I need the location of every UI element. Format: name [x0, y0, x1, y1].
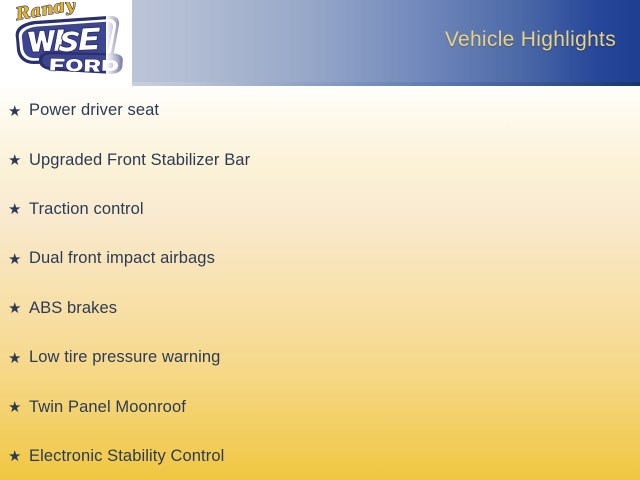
highlight-label: Power driver seat	[29, 101, 159, 120]
list-item: ★ Twin Panel Moonroof	[0, 382, 640, 431]
highlight-label: ABS brakes	[29, 299, 117, 318]
logo-plate: Randy	[0, 0, 132, 86]
highlight-label: Twin Panel Moonroof	[29, 398, 186, 417]
list-item: ★ Traction control	[0, 185, 640, 234]
highlight-label: Traction control	[29, 200, 144, 219]
list-item: ★ Upgraded Front Stabilizer Bar	[0, 135, 640, 184]
star-bullet-icon: ★	[8, 300, 29, 316]
highlight-label: Electronic Stability Control	[29, 447, 224, 466]
randy-wise-ford-logo: Randy	[4, 2, 130, 82]
vehicle-highlights-slide: Vehicle Highlights Randy	[0, 0, 640, 480]
list-item: ★ Low tire pressure warning	[0, 333, 640, 382]
page-title: Vehicle Highlights	[445, 28, 616, 52]
list-item: ★ Dual front impact airbags	[0, 234, 640, 283]
star-bullet-icon: ★	[8, 448, 29, 464]
highlight-label: Dual front impact airbags	[29, 249, 215, 268]
list-item: ★ Electronic Stability Control	[0, 432, 640, 480]
highlight-label: Low tire pressure warning	[29, 348, 220, 367]
list-item: ★ Power driver seat	[0, 86, 640, 135]
highlights-list: ★ Power driver seat ★ Upgraded Front Sta…	[0, 86, 640, 480]
highlight-label: Upgraded Front Stabilizer Bar	[29, 151, 250, 170]
star-bullet-icon: ★	[8, 251, 29, 267]
star-bullet-icon: ★	[8, 399, 29, 415]
list-item: ★ ABS brakes	[0, 284, 640, 333]
star-bullet-icon: ★	[8, 103, 29, 119]
highlights-content: ★ Power driver seat ★ Upgraded Front Sta…	[0, 86, 640, 480]
star-bullet-icon: ★	[8, 350, 29, 366]
star-bullet-icon: ★	[8, 201, 29, 217]
star-bullet-icon: ★	[8, 152, 29, 168]
